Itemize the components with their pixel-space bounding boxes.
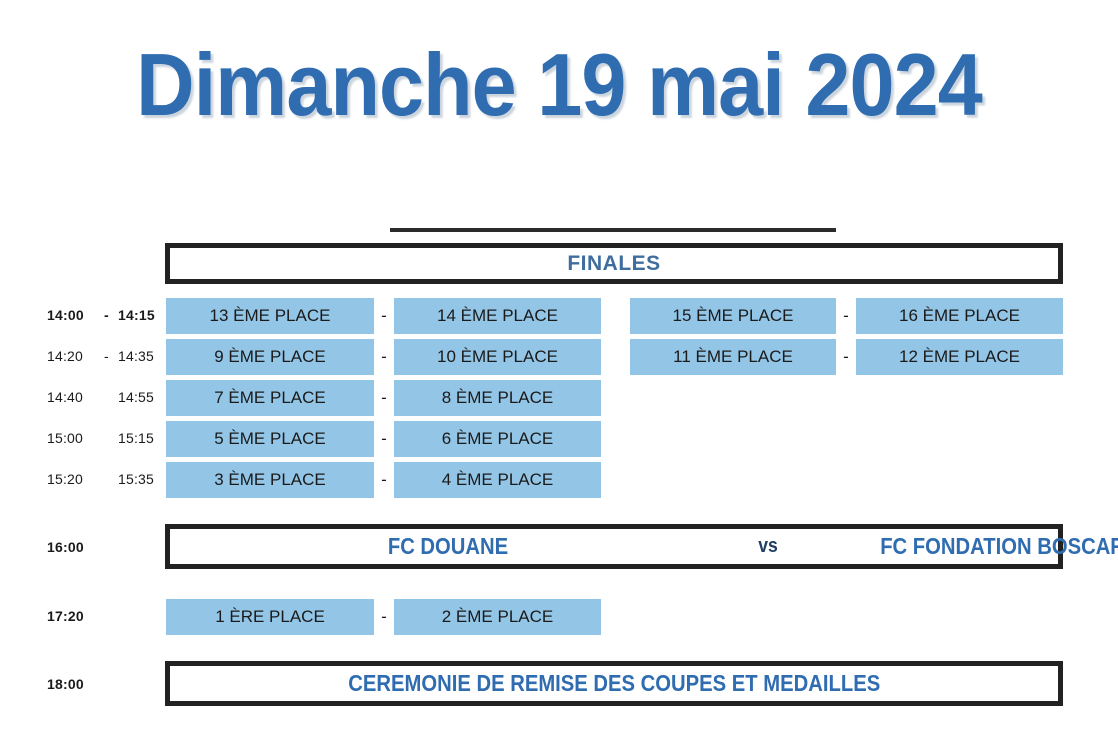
match-cell-away[interactable]: 14 ÈME PLACE bbox=[394, 298, 601, 334]
match-separator: - bbox=[374, 339, 394, 375]
row-time-end: 14:15 bbox=[118, 307, 155, 323]
match-cell-away[interactable]: 16 ÈME PLACE bbox=[856, 298, 1063, 334]
match-cell-away[interactable]: 8 ÈME PLACE bbox=[394, 380, 601, 416]
match-separator: - bbox=[374, 599, 394, 635]
row-time-start: 15:20 bbox=[47, 471, 83, 487]
match-cell-home[interactable]: 3 ÈME PLACE bbox=[166, 462, 374, 498]
row-time-start: 14:40 bbox=[47, 389, 83, 405]
final-match-time: 16:00 bbox=[47, 539, 84, 555]
row-time-start: 14:00 bbox=[47, 307, 84, 323]
match-separator: - bbox=[374, 380, 394, 416]
row-time-start: 14:20 bbox=[47, 348, 83, 364]
ceremony-banner[interactable]: CEREMONIE DE REMISE DES COUPES ET MEDAIL… bbox=[165, 661, 1063, 706]
third-place-time: 17:20 bbox=[47, 608, 84, 624]
row-time-end: 14:35 bbox=[118, 348, 154, 364]
match-cell-away[interactable]: 2 ÈME PLACE bbox=[394, 599, 601, 635]
row-time-end: 14:55 bbox=[118, 389, 154, 405]
match-cell-home[interactable]: 15 ÈME PLACE bbox=[630, 298, 836, 334]
header-rule bbox=[390, 228, 836, 232]
match-separator: - bbox=[836, 298, 856, 334]
match-cell-away[interactable]: 10 ÈME PLACE bbox=[394, 339, 601, 375]
match-separator: - bbox=[374, 462, 394, 498]
final-match-banner[interactable]: FC DOUANE vs FC FONDATION BOSCARDIN bbox=[165, 524, 1063, 569]
row-time-end: 15:15 bbox=[118, 430, 154, 446]
final-match-vs-label: vs bbox=[742, 535, 795, 558]
finales-banner: FINALES bbox=[165, 243, 1063, 284]
schedule-table: FINALES 14:00 - 14:15 13 ÈME PLACE - 14 … bbox=[0, 0, 1118, 738]
row-time-dash: - bbox=[104, 307, 109, 323]
row-time-dash: - bbox=[104, 348, 109, 364]
match-separator: - bbox=[374, 298, 394, 334]
match-cell-home[interactable]: 1 ÈRE PLACE bbox=[166, 599, 374, 635]
match-cell-away[interactable]: 6 ÈME PLACE bbox=[394, 421, 601, 457]
match-cell-home[interactable]: 11 ÈME PLACE bbox=[630, 339, 836, 375]
ceremony-time: 18:00 bbox=[47, 676, 84, 692]
final-match-home-team: FC DOUANE bbox=[316, 533, 580, 560]
match-cell-home[interactable]: 5 ÈME PLACE bbox=[166, 421, 374, 457]
final-match-away-team: FC FONDATION BOSCARDIN bbox=[835, 533, 1118, 560]
match-cell-home[interactable]: 13 ÈME PLACE bbox=[166, 298, 374, 334]
match-cell-away[interactable]: 4 ÈME PLACE bbox=[394, 462, 601, 498]
finales-banner-label: FINALES bbox=[567, 252, 660, 276]
row-time-start: 15:00 bbox=[47, 430, 83, 446]
ceremony-label: CEREMONIE DE REMISE DES COUPES ET MEDAIL… bbox=[348, 670, 880, 697]
match-separator: - bbox=[836, 339, 856, 375]
row-time-end: 15:35 bbox=[118, 471, 154, 487]
match-cell-away[interactable]: 12 ÈME PLACE bbox=[856, 339, 1063, 375]
match-cell-home[interactable]: 9 ÈME PLACE bbox=[166, 339, 374, 375]
match-separator: - bbox=[374, 421, 394, 457]
match-cell-home[interactable]: 7 ÈME PLACE bbox=[166, 380, 374, 416]
